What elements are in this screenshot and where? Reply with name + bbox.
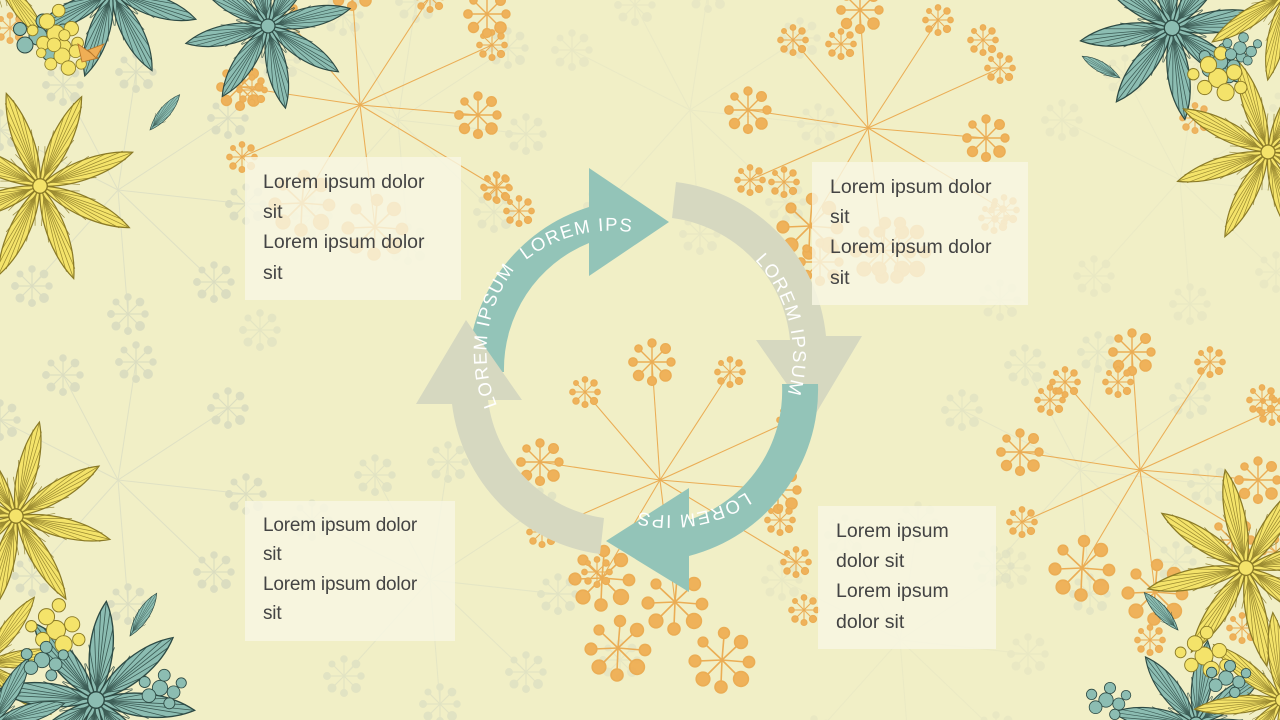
textbox-top-left-line-1: Lorem ipsum dolor sit (263, 167, 445, 227)
textbox-top-right-line-2: Lorem ipsum dolor sit (830, 232, 1012, 292)
textbox-top-right-line-1: Lorem ipsum dolor sit (830, 172, 1012, 232)
textbox-top-left[interactable]: Lorem ipsum dolor sit Lorem ipsum dolor … (245, 157, 461, 300)
textbox-bottom-right[interactable]: Lorem ipsum dolor sit Lorem ipsum dolor … (818, 506, 996, 649)
textbox-bottom-right-line-1: Lorem ipsum dolor sit (836, 516, 980, 576)
textbox-bottom-left[interactable]: Lorem ipsum dolor sit Lorem ipsum dolor … (245, 501, 455, 641)
textbox-bottom-left-line-2: Lorem ipsum dolor sit (263, 570, 439, 629)
text-callouts: Lorem ipsum dolor sit Lorem ipsum dolor … (0, 0, 1280, 720)
textbox-bottom-left-line-1: Lorem ipsum dolor sit (263, 511, 439, 570)
textbox-top-right[interactable]: Lorem ipsum dolor sit Lorem ipsum dolor … (812, 162, 1028, 305)
textbox-top-left-line-2: Lorem ipsum dolor sit (263, 227, 445, 287)
slide-canvas: LOREM IPSUM LOREM IPSUM LOREM IPSUM LORE… (0, 0, 1280, 720)
textbox-bottom-right-line-2: Lorem ipsum dolor sit (836, 576, 980, 636)
